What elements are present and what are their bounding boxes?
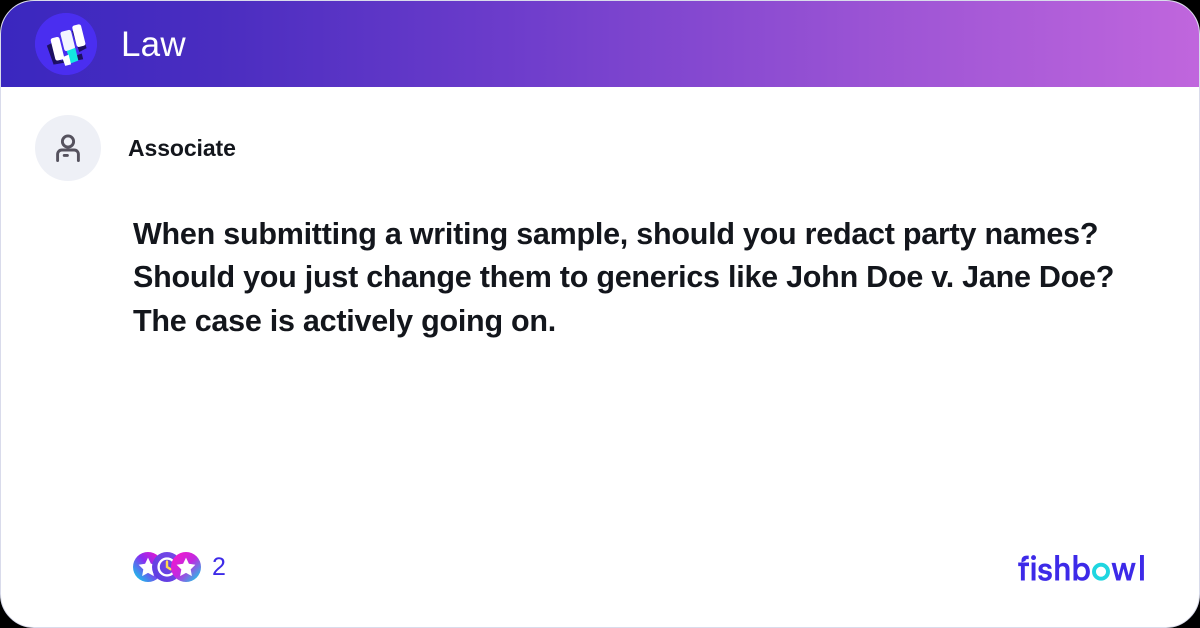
- author-row: Associate: [35, 115, 1165, 181]
- card-body: Associate When submitting a writing samp…: [1, 87, 1199, 627]
- post-text: When submitting a writing sample, should…: [133, 213, 1125, 343]
- card-footer: 2: [35, 543, 1165, 591]
- reaction-count: 2: [212, 555, 226, 580]
- reactions-group[interactable]: 2: [133, 552, 226, 582]
- fishbowl-wordmark-logo: [1011, 545, 1151, 589]
- card-header: Law: [1, 1, 1199, 87]
- author-name: Associate: [128, 135, 236, 162]
- person-icon: [51, 131, 85, 165]
- post-card: Law Associate When submitting a writing …: [0, 0, 1200, 628]
- bowl-logo-icon: [35, 13, 97, 75]
- star-reaction-icon[interactable]: [171, 552, 201, 582]
- header-title: Law: [121, 27, 186, 62]
- reaction-avatars[interactable]: [133, 552, 201, 582]
- avatar: [35, 115, 101, 181]
